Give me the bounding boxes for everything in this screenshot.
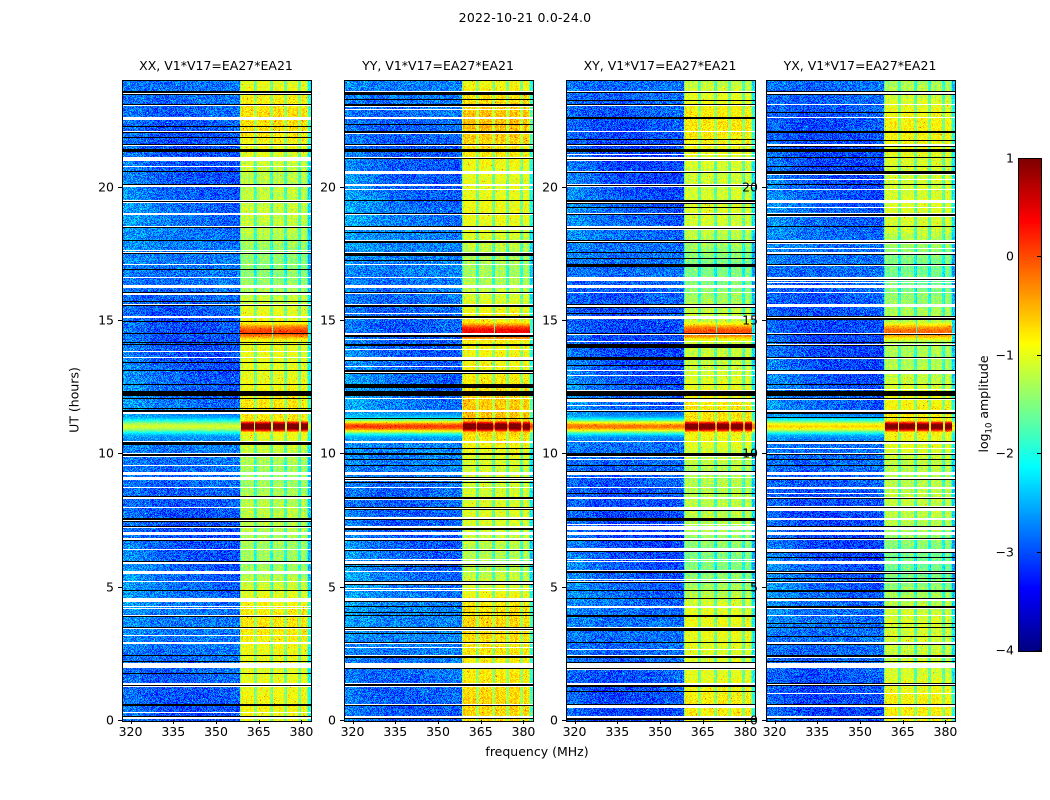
y-tick-label: 5 [736,579,758,594]
y-tick-label: 15 [536,313,558,328]
y-tick [340,320,344,321]
panel-title-xx: XX, V1*V17=EA27*EA21 [139,58,293,73]
x-tick-label: 380 [934,724,958,739]
y-tick-label: 20 [92,179,114,194]
y-tick [762,587,766,588]
y-tick [340,187,344,188]
panel-title-yy: YY, V1*V17=EA27*EA21 [362,58,514,73]
y-tick-label: 15 [92,313,114,328]
y-tick-label: 5 [314,579,336,594]
colorbar-tick-label: −4 [996,643,1014,658]
x-tick-label: 335 [605,724,629,739]
x-tick-label: 365 [247,724,271,739]
y-tick [762,320,766,321]
colorbar-tick-label: −1 [996,347,1014,362]
x-tick-label: 320 [341,724,365,739]
y-tick-label: 5 [536,579,558,594]
y-tick-label: 10 [92,446,114,461]
colorbar-tick [1037,453,1041,454]
x-tick-label: 350 [426,724,450,739]
y-tick-label: 0 [92,713,114,728]
figure-suptitle: 2022-10-21 0.0-24.0 [0,10,1050,25]
x-tick-label: 350 [648,724,672,739]
y-tick-label: 15 [736,313,758,328]
colorbar-label: log10 amplitude [976,355,995,452]
y-tick-label: 0 [736,713,758,728]
colorbar-tick-label: 0 [1006,249,1014,264]
y-tick-label: 20 [314,179,336,194]
y-tick-label: 10 [736,446,758,461]
colorbar-tick [1037,158,1041,159]
y-tick [118,720,122,721]
y-tick [762,720,766,721]
colorbar-tick-label: −2 [996,446,1014,461]
x-tick-label: 320 [563,724,587,739]
colorbar-tick-label: 1 [1006,151,1014,166]
y-tick-label: 20 [536,179,558,194]
x-tick-label: 365 [891,724,915,739]
y-tick-label: 0 [536,713,558,728]
y-tick [118,320,122,321]
y-tick [340,587,344,588]
y-tick [562,187,566,188]
colorbar-tick-label: −3 [996,544,1014,559]
x-tick-label: 320 [763,724,787,739]
x-tick-label: 380 [512,724,536,739]
heatmap-panel-yx[interactable] [766,80,956,722]
y-tick [762,187,766,188]
y-tick [762,453,766,454]
x-tick-label: 335 [805,724,829,739]
x-tick-label: 335 [383,724,407,739]
colorbar-tick [1037,650,1041,651]
y-tick [562,453,566,454]
y-tick [118,453,122,454]
panel-title-yx: YX, V1*V17=EA27*EA21 [784,58,937,73]
y-tick-label: 20 [736,179,758,194]
x-tick-label: 365 [469,724,493,739]
x-tick-label: 350 [204,724,228,739]
heatmap-panel-xy[interactable] [566,80,756,722]
colorbar[interactable] [1018,158,1042,652]
y-tick [340,720,344,721]
colorbar-tick [1037,355,1041,356]
x-axis-label: frequency (MHz) [485,744,588,759]
y-tick-label: 0 [314,713,336,728]
y-tick [340,453,344,454]
colorbar-tick [1037,552,1041,553]
heatmap-panel-yy[interactable] [344,80,534,722]
y-tick-label: 5 [92,579,114,594]
y-axis-label: UT (hours) [67,367,82,433]
x-tick-label: 365 [691,724,715,739]
x-tick-label: 335 [161,724,185,739]
colorbar-tick [1037,256,1041,257]
y-tick [562,320,566,321]
heatmap-panel-xx[interactable] [122,80,312,722]
y-tick [562,720,566,721]
x-tick-label: 350 [848,724,872,739]
y-tick-label: 15 [314,313,336,328]
x-tick-label: 380 [290,724,314,739]
y-tick-label: 10 [314,446,336,461]
x-tick-label: 320 [119,724,143,739]
y-tick [118,587,122,588]
figure-canvas: 2022-10-21 0.0-24.0 XX, V1*V17=EA27*EA21… [0,0,1050,800]
panel-title-xy: XY, V1*V17=EA27*EA21 [584,58,737,73]
y-tick-label: 10 [536,446,558,461]
y-tick [118,187,122,188]
y-tick [562,587,566,588]
